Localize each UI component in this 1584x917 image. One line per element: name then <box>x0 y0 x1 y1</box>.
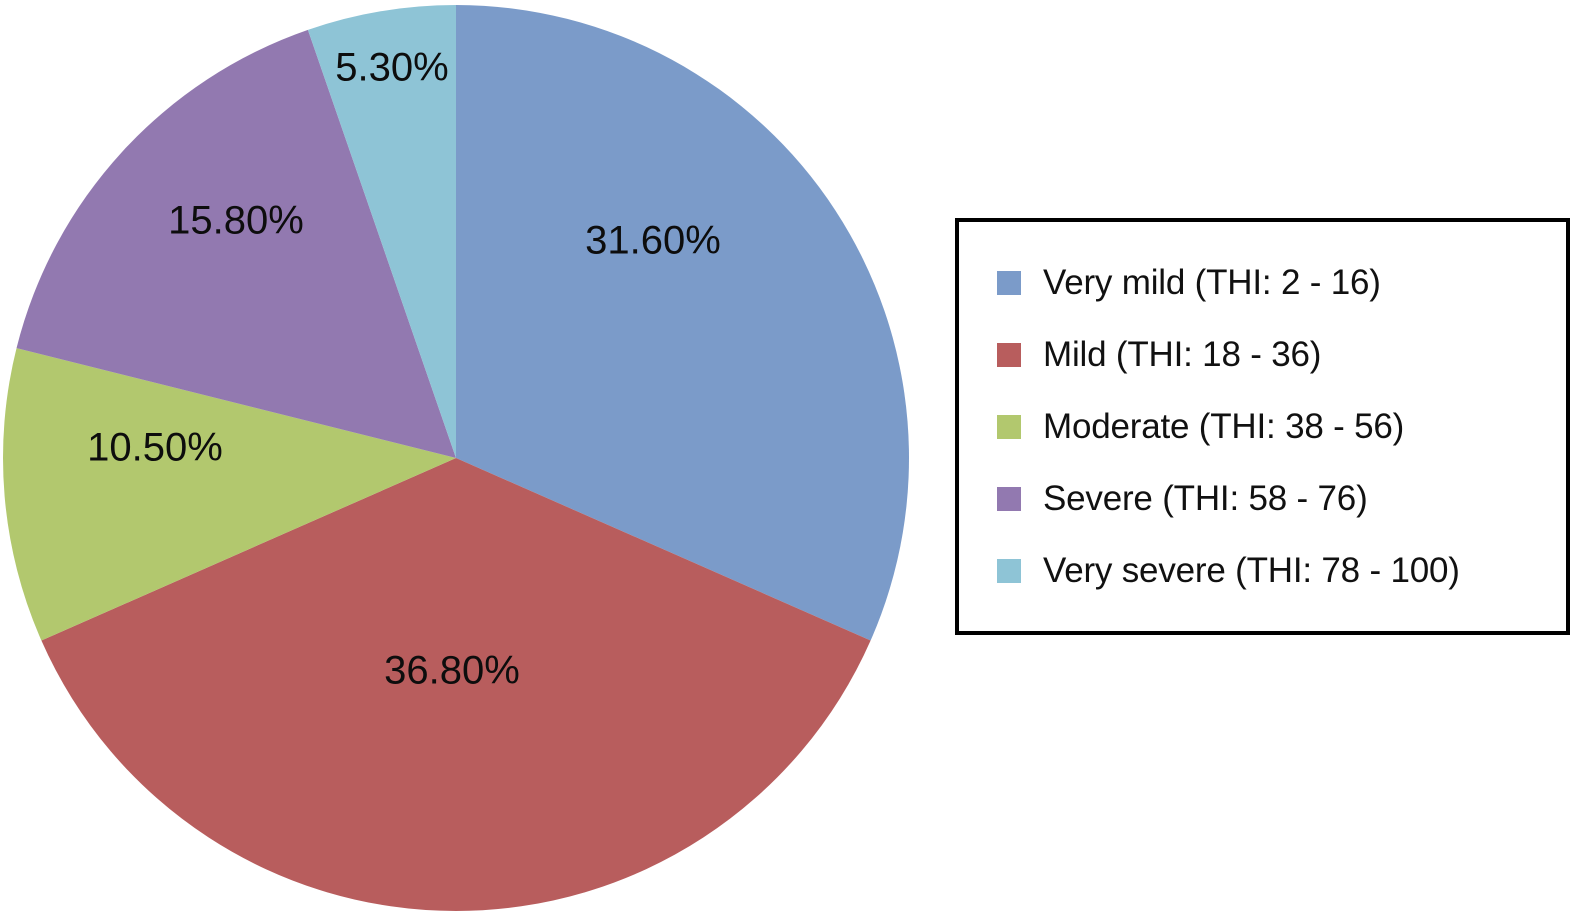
legend-item: Moderate (THI: 38 - 56) <box>997 391 1566 463</box>
chart-canvas: 31.60%36.80%10.50%15.80%5.30% Very mild … <box>0 0 1584 917</box>
pie-slice-data-label: 36.80% <box>384 649 520 693</box>
pie-slice-data-label: 5.30% <box>335 46 448 90</box>
legend-swatch-icon <box>997 415 1021 439</box>
pie-slice-data-label: 10.50% <box>87 426 223 470</box>
legend-item: Very severe (THI: 78 - 100) <box>997 535 1566 607</box>
legend-item: Very mild (THI: 2 - 16) <box>997 247 1566 319</box>
legend: Very mild (THI: 2 - 16)Mild (THI: 18 - 3… <box>955 218 1570 635</box>
pie-slice-data-label: 31.60% <box>585 219 721 263</box>
legend-item: Mild (THI: 18 - 36) <box>997 319 1566 391</box>
legend-item-label: Severe (THI: 58 - 76) <box>1043 479 1368 519</box>
legend-items: Very mild (THI: 2 - 16)Mild (THI: 18 - 3… <box>997 247 1566 607</box>
legend-item-label: Moderate (THI: 38 - 56) <box>1043 407 1404 447</box>
legend-swatch-icon <box>997 487 1021 511</box>
pie-slice-data-label: 15.80% <box>168 199 304 243</box>
legend-swatch-icon <box>997 343 1021 367</box>
legend-swatch-icon <box>997 271 1021 295</box>
legend-item: Severe (THI: 58 - 76) <box>997 463 1566 535</box>
legend-item-label: Very mild (THI: 2 - 16) <box>1043 263 1381 303</box>
legend-item-label: Mild (THI: 18 - 36) <box>1043 335 1321 375</box>
legend-swatch-icon <box>997 559 1021 583</box>
legend-item-label: Very severe (THI: 78 - 100) <box>1043 551 1460 591</box>
